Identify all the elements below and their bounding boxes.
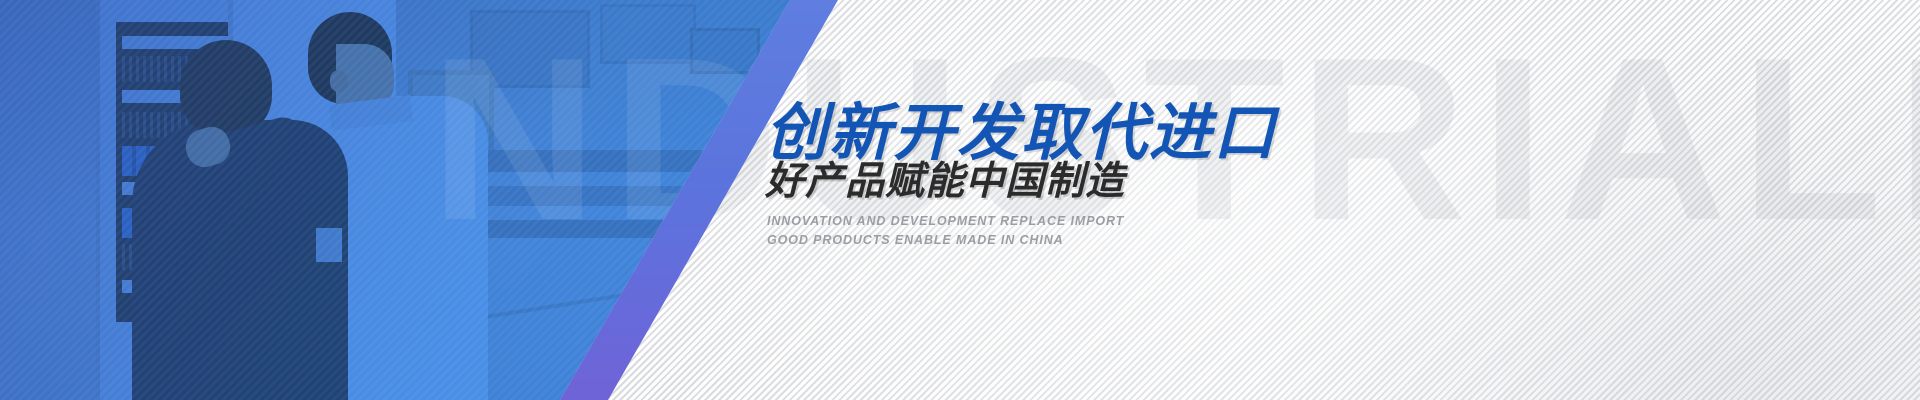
english-subtitle-line-2: GOOD PRODUCTS ENABLE MADE IN CHINA <box>767 231 1124 250</box>
english-subtitle-line-1: INNOVATION AND DEVELOPMENT REPLACE IMPOR… <box>767 212 1124 231</box>
banner-english-subtitle: INNOVATION AND DEVELOPMENT REPLACE IMPOR… <box>767 212 1124 250</box>
banner-subheadline: 好产品赋能中国制造 <box>765 150 1125 206</box>
banner-copy-block: 创新开发取代进口 好产品赋能中国制造 INNOVATION AND DEVELO… <box>765 0 1765 400</box>
hero-banner: NDUSTRIALISM <box>0 0 1920 400</box>
